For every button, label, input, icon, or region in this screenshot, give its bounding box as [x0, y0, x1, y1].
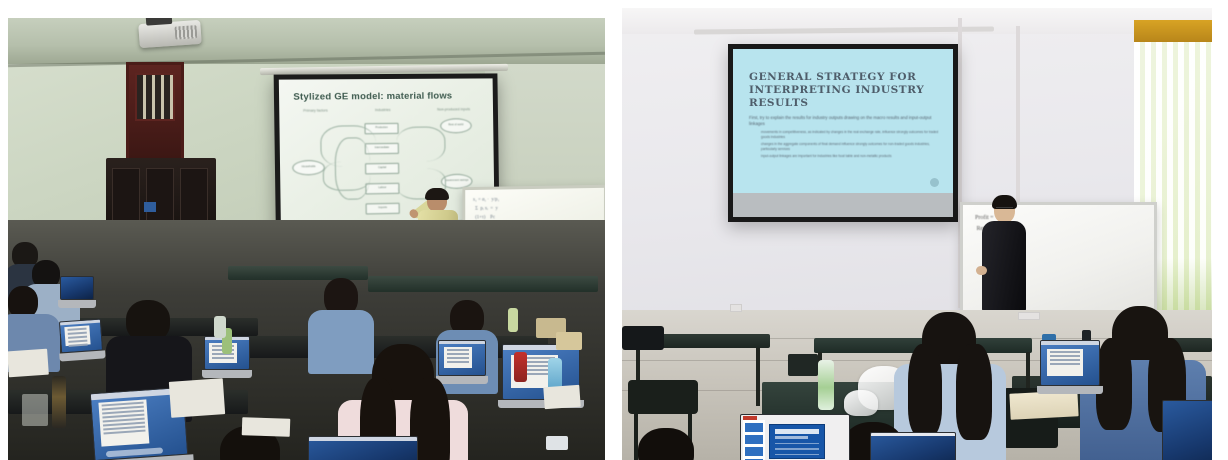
photo-left[interactable]: Stylized GE model: material flows Primar…: [8, 18, 605, 460]
presenter-sweater: [982, 221, 1026, 313]
bottle: [214, 316, 226, 338]
power-outlet[interactable]: [1018, 312, 1040, 320]
column-header-0: Primary factors: [303, 109, 328, 113]
slide-thumbnail-rail: [743, 420, 765, 460]
desk-row: [368, 276, 598, 292]
sub-bullet-2: input-output linkages are important for …: [761, 154, 943, 159]
paper-sheet: [169, 378, 225, 418]
slide-column-headers: Primary factors Industries Non-produced …: [279, 107, 493, 113]
paper-sheet: [8, 349, 49, 378]
laptop[interactable]: [59, 319, 103, 354]
open-notebook: [1009, 390, 1078, 420]
desk-leg: [756, 348, 760, 406]
bottle: [52, 376, 66, 428]
slide-sub-bullets: movements in competitiveness, as indicat…: [761, 130, 943, 159]
column-header-1: Industries: [375, 108, 391, 112]
slide-logo-icon: [930, 178, 939, 187]
glasses-icon: [996, 207, 1013, 212]
laptop-screen: [740, 414, 850, 460]
laptop[interactable]: [870, 432, 956, 460]
sub-bullet-0: movements in competitiveness, as indicat…: [761, 130, 943, 139]
slide-title-left: Stylized GE model: material flows: [293, 90, 483, 102]
presenter-view-slide: [769, 424, 825, 460]
bottle: [514, 352, 527, 382]
laptop-screen: [308, 436, 418, 460]
presenter-hand: [976, 266, 987, 275]
phone: [546, 436, 568, 450]
student-row: [632, 428, 702, 460]
laptop-screen: [870, 432, 956, 460]
sub-bullet-1: changes in the aggregate components of f…: [761, 142, 943, 151]
bag: [788, 354, 818, 376]
plastic-bag: [844, 390, 878, 416]
laptop[interactable]: [1040, 340, 1100, 386]
laptop[interactable]: [1162, 400, 1212, 460]
laptop-screen: [59, 319, 103, 354]
bottle: [508, 308, 518, 332]
projection-screen-right[interactable]: GENERAL STRATEGY FOR INTERPRETING INDUST…: [728, 44, 958, 222]
paper-sheet: [543, 385, 580, 409]
paper-sheet: [242, 417, 291, 437]
water-bottle: [818, 360, 834, 410]
power-outlet[interactable]: [730, 304, 742, 312]
laptop-screen: [1040, 340, 1100, 386]
presenter-hair: [425, 188, 449, 200]
slide-title-right: GENERAL STRATEGY FOR INTERPRETING INDUST…: [749, 71, 943, 110]
classroom-door: [126, 62, 184, 162]
snack-box: [556, 332, 582, 350]
laptop-screen: [1162, 400, 1212, 460]
diagram-node-6: Rest of world: [440, 118, 472, 133]
curtain-valance: [1134, 20, 1212, 42]
column-header-2: Non-produced inputs: [437, 107, 470, 111]
projector-icon: [138, 20, 202, 48]
photo-left-content: Stylized GE model: material flows Primar…: [8, 18, 605, 460]
laptop[interactable]: [60, 276, 94, 300]
slide-bullet-1: First, try to explain the results for in…: [749, 115, 943, 127]
diagram-node-0: Households: [292, 160, 325, 176]
screen-bottom-band: [733, 193, 953, 217]
bag: [622, 326, 664, 350]
laptop[interactable]: [308, 436, 418, 460]
diagram-node-4: Labour: [365, 183, 399, 195]
photo-right[interactable]: GENERAL STRATEGY FOR INTERPRETING INDUST…: [622, 8, 1212, 460]
laptop-screen: [60, 276, 94, 300]
photo-right-content: GENERAL STRATEGY FOR INTERPRETING INDUST…: [622, 8, 1212, 460]
projected-slide-right: GENERAL STRATEGY FOR INTERPRETING INDUST…: [733, 49, 953, 217]
photo-board: Stylized GE model: material flows Primar…: [0, 0, 1228, 460]
cup: [22, 394, 48, 426]
diagram-node-5: Imports: [366, 203, 400, 215]
laptop[interactable]: [740, 414, 850, 460]
